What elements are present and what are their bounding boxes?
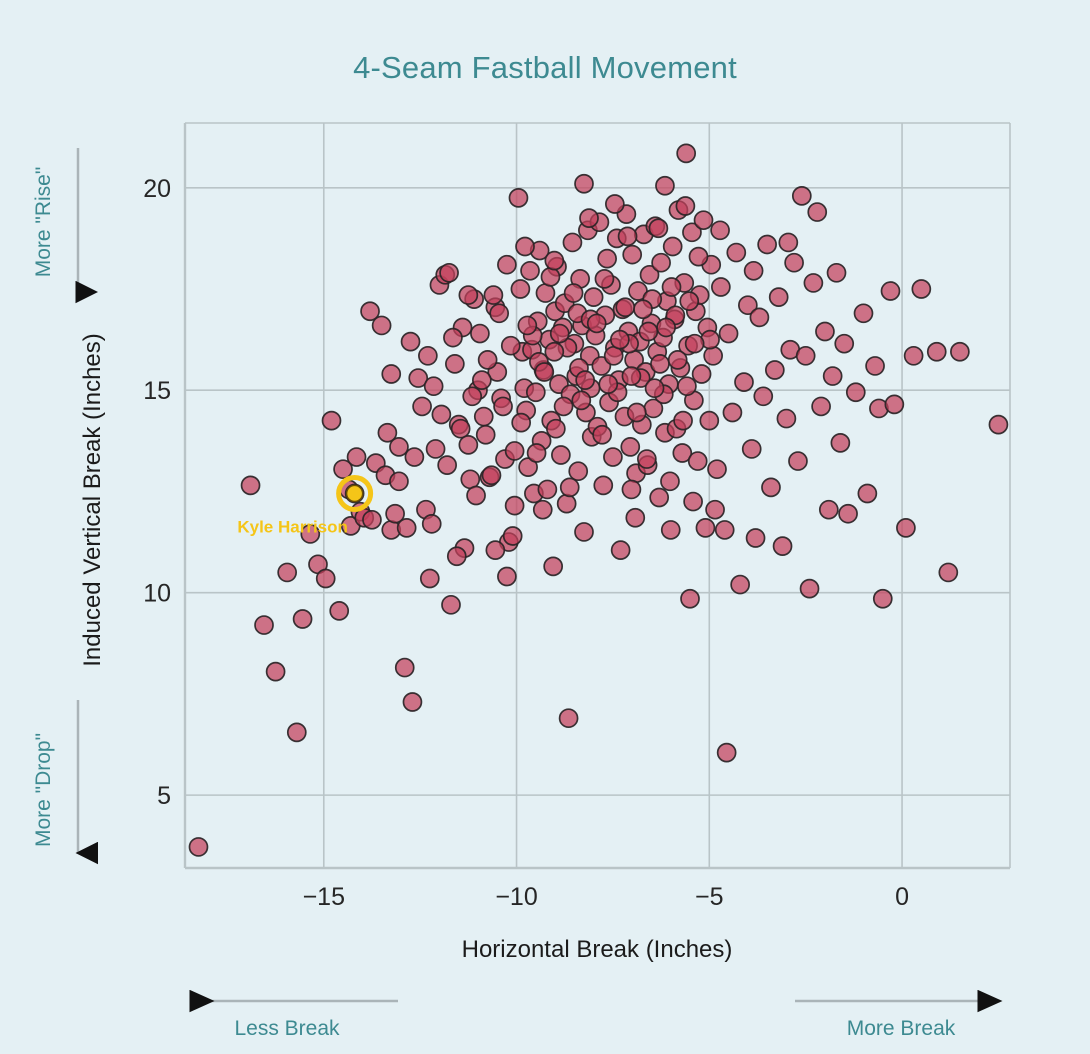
data-point: [498, 567, 516, 585]
data-point: [612, 541, 630, 559]
data-point: [398, 519, 416, 537]
data-point: [572, 391, 590, 409]
data-point: [363, 511, 381, 529]
data-point: [801, 580, 819, 598]
data-point: [661, 472, 679, 490]
data-point: [528, 444, 546, 462]
data-point: [425, 377, 443, 395]
data-point: [413, 397, 431, 415]
data-point: [606, 195, 624, 213]
data-point: [680, 292, 698, 310]
data-point: [656, 177, 674, 195]
data-point: [820, 501, 838, 519]
y-tick-label: 20: [143, 175, 171, 203]
data-point: [490, 304, 508, 322]
data-point: [595, 270, 613, 288]
data-point: [646, 379, 664, 397]
data-point: [535, 363, 553, 381]
data-point: [604, 448, 622, 466]
data-point: [695, 211, 713, 229]
y-tick-label: 5: [157, 782, 171, 810]
data-point: [628, 404, 646, 422]
data-point: [611, 331, 629, 349]
data-point: [663, 278, 681, 296]
data-point: [638, 450, 656, 468]
more-break-label: More Break: [847, 1017, 956, 1040]
data-point: [580, 209, 598, 227]
data-point: [545, 343, 563, 361]
data-point: [684, 493, 702, 511]
data-point: [486, 541, 504, 559]
data-point: [616, 298, 634, 316]
data-point: [382, 365, 400, 383]
data-point: [477, 426, 495, 444]
data-point: [676, 197, 694, 215]
data-point: [463, 387, 481, 405]
data-point: [527, 383, 545, 401]
data-point: [743, 440, 761, 458]
data-point: [459, 286, 477, 304]
data-point: [575, 175, 593, 193]
data-point: [690, 248, 708, 266]
data-point: [348, 448, 366, 466]
data-point: [502, 337, 520, 355]
data-point: [544, 557, 562, 575]
data-point: [479, 351, 497, 369]
data-point: [473, 371, 491, 389]
data-point: [847, 383, 865, 401]
data-point: [828, 264, 846, 282]
data-point: [621, 438, 639, 456]
data-point: [565, 284, 583, 302]
data-point: [754, 387, 772, 405]
data-point: [511, 280, 529, 298]
data-point: [681, 590, 699, 608]
data-point: [789, 452, 807, 470]
data-point: [494, 397, 512, 415]
data-point: [696, 519, 714, 537]
data-point: [897, 519, 915, 537]
data-point: [723, 404, 741, 422]
data-point: [482, 466, 500, 484]
data-point: [255, 616, 273, 634]
data-point: [720, 325, 738, 343]
data-point: [824, 367, 842, 385]
data-point: [390, 438, 408, 456]
data-point: [189, 838, 207, 856]
data-point: [438, 456, 456, 474]
data-point: [639, 323, 657, 341]
data-point: [448, 547, 466, 565]
x-tick-label: −5: [695, 883, 724, 911]
data-point: [575, 523, 593, 541]
data-point: [278, 563, 296, 581]
data-point: [785, 254, 803, 272]
data-point: [440, 264, 458, 282]
data-point: [750, 308, 768, 326]
data-point: [808, 203, 826, 221]
data-point: [555, 397, 573, 415]
data-point: [461, 470, 479, 488]
data-point: [552, 446, 570, 464]
data-point: [678, 377, 696, 395]
data-point: [816, 323, 834, 341]
data-point: [649, 219, 667, 237]
data-point: [706, 501, 724, 519]
data-point: [693, 365, 711, 383]
data-point: [626, 509, 644, 527]
less-break-label: Less Break: [234, 1017, 340, 1040]
x-axis-title: Horizontal Break (Inches): [462, 936, 733, 963]
data-point: [506, 497, 524, 515]
data-point: [323, 412, 341, 430]
data-point: [766, 361, 784, 379]
data-point: [651, 355, 669, 373]
data-point: [623, 246, 641, 264]
data-point: [427, 440, 445, 458]
data-point: [444, 329, 462, 347]
data-point: [677, 144, 695, 162]
data-point: [534, 501, 552, 519]
data-point: [912, 280, 930, 298]
data-point: [839, 505, 857, 523]
data-point: [396, 659, 414, 677]
data-point: [708, 460, 726, 478]
data-point: [831, 434, 849, 452]
data-point: [551, 325, 569, 343]
data-point: [547, 420, 565, 438]
y-tick-label: 10: [143, 580, 171, 608]
scatter-plot: −15−10−505101520 Kyle Harrison Horizonta…: [0, 0, 1090, 1054]
y-axis-title: Induced Vertical Break (Inches): [79, 333, 106, 667]
data-point: [650, 489, 668, 507]
data-point: [812, 397, 830, 415]
data-point: [267, 663, 285, 681]
data-point: [538, 480, 556, 498]
data-point: [619, 227, 637, 245]
data-point: [700, 412, 718, 430]
data-point: [735, 373, 753, 391]
data-point: [731, 576, 749, 594]
data-point: [475, 408, 493, 426]
data-point: [662, 521, 680, 539]
data-point: [797, 347, 815, 365]
more-drop-label: More "Drop": [32, 733, 55, 847]
data-point: [512, 414, 530, 432]
data-point: [373, 316, 391, 334]
data-point: [317, 570, 335, 588]
data-point: [686, 335, 704, 353]
data-point: [711, 221, 729, 239]
data-point: [605, 347, 623, 365]
data-point: [504, 527, 522, 545]
data-point: [402, 333, 420, 351]
data-point: [442, 596, 460, 614]
data-point: [459, 436, 477, 454]
data-point: [669, 351, 687, 369]
data-point: [560, 709, 578, 727]
data-point: [905, 347, 923, 365]
data-point: [288, 723, 306, 741]
more-rise-label: More "Rise": [32, 167, 55, 278]
data-point: [516, 237, 534, 255]
data-point: [419, 347, 437, 365]
data-point: [634, 300, 652, 318]
data-point: [432, 406, 450, 424]
chart-figure: 4-Seam Fastball Movement −15−10−50510152…: [0, 0, 1090, 1054]
data-point: [588, 314, 606, 332]
data-point: [657, 318, 675, 336]
data-point: [747, 529, 765, 547]
data-point: [242, 476, 260, 494]
data-point: [712, 278, 730, 296]
data-point: [536, 284, 554, 302]
data-point: [541, 268, 559, 286]
data-point: [881, 282, 899, 300]
data-point: [664, 237, 682, 255]
data-point: [745, 262, 763, 280]
data-point: [423, 515, 441, 533]
y-tick-label: 15: [143, 377, 171, 405]
data-point: [558, 495, 576, 513]
data-point: [405, 448, 423, 466]
data-point: [774, 537, 792, 555]
data-point: [561, 478, 579, 496]
data-point: [545, 252, 563, 270]
data-point: [484, 286, 502, 304]
data-point: [452, 420, 470, 438]
data-point: [674, 412, 692, 430]
data-point: [704, 347, 722, 365]
data-point: [576, 371, 594, 389]
highlight-marker[interactable]: [347, 485, 363, 501]
data-point: [770, 288, 788, 306]
data-point: [779, 233, 797, 251]
data-point: [793, 187, 811, 205]
data-point: [885, 395, 903, 413]
data-point: [467, 487, 485, 505]
plot-area-background: [185, 123, 1010, 868]
data-point: [622, 480, 640, 498]
data-point: [762, 478, 780, 496]
data-point: [989, 416, 1007, 434]
data-point: [594, 476, 612, 494]
data-point: [403, 693, 421, 711]
x-tick-label: −10: [495, 883, 537, 911]
data-point: [599, 375, 617, 393]
data-point: [294, 610, 312, 628]
data-point: [652, 254, 670, 272]
data-point: [498, 256, 516, 274]
data-point: [518, 316, 536, 334]
data-point: [598, 250, 616, 268]
data-point: [727, 244, 745, 262]
data-point: [939, 563, 957, 581]
data-point: [446, 355, 464, 373]
highlight-player-label: Kyle Harrison: [237, 517, 348, 536]
data-point: [928, 343, 946, 361]
data-point: [874, 590, 892, 608]
data-point: [689, 452, 707, 470]
data-point: [804, 274, 822, 292]
data-point: [951, 343, 969, 361]
data-point: [716, 521, 734, 539]
data-point: [585, 288, 603, 306]
data-point: [521, 262, 539, 280]
data-point: [330, 602, 348, 620]
data-point: [622, 367, 640, 385]
data-point: [866, 357, 884, 375]
data-point: [421, 570, 439, 588]
data-point: [509, 189, 527, 207]
data-point: [777, 410, 795, 428]
data-point: [758, 235, 776, 253]
data-point: [593, 426, 611, 444]
data-point: [506, 442, 524, 460]
data-point: [835, 335, 853, 353]
data-point: [563, 233, 581, 251]
x-tick-label: 0: [895, 883, 909, 911]
x-tick-label: −15: [303, 883, 345, 911]
data-point: [390, 472, 408, 490]
data-point: [718, 744, 736, 762]
data-point: [569, 462, 587, 480]
data-point: [471, 325, 489, 343]
data-point: [855, 304, 873, 322]
data-point: [858, 484, 876, 502]
